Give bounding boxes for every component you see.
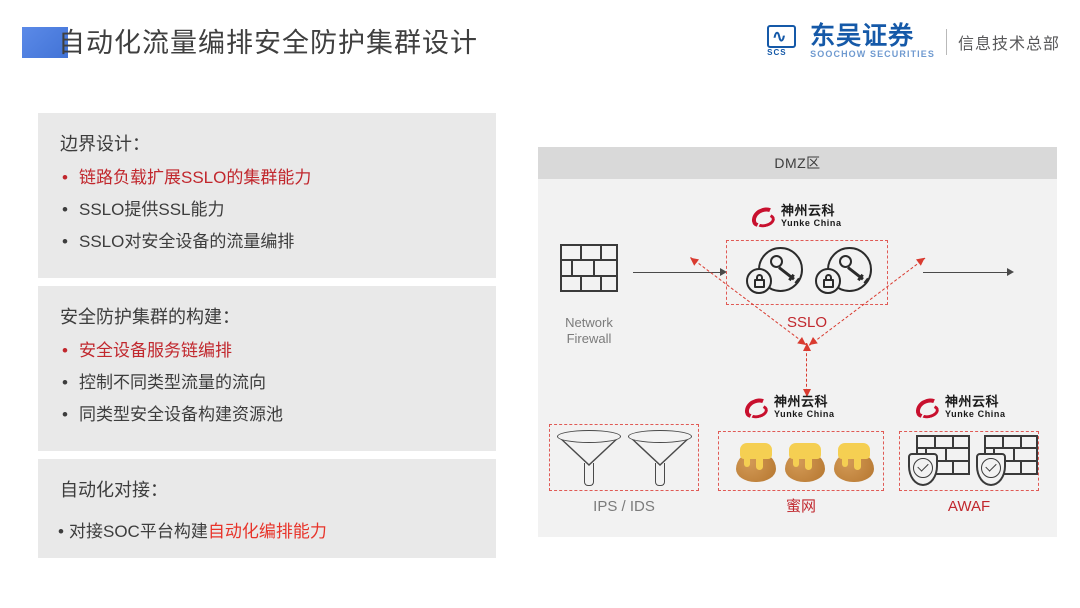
honey-pot-icon	[734, 439, 778, 483]
brand-department: 信息技术总部	[958, 30, 1060, 54]
vendor-name-cn: 神州云科	[774, 395, 835, 409]
block-heading: 自动化对接：	[38, 459, 496, 502]
vendor-name-cn: 神州云科	[781, 204, 842, 218]
list-item-label-highlight: 自动化编排能力	[208, 522, 327, 541]
node-label-awaf: AWAF	[899, 499, 1039, 515]
list-item: • 链路负载扩展SSLO的集群能力	[38, 156, 496, 188]
honey-pot-icon	[832, 439, 876, 483]
vendor-logo-yunke: 神州云科 Yunke China	[744, 395, 835, 420]
list-item: • 安全设备服务链编排	[38, 329, 496, 361]
list-item-label: SSLO对安全设备的流量编排	[79, 232, 294, 252]
yunke-mark-icon	[744, 398, 770, 418]
bullet-icon: •	[62, 200, 79, 220]
key-lock-icon	[746, 247, 806, 297]
shield-wall-icon	[976, 435, 1038, 487]
yunke-mark-icon	[915, 398, 941, 418]
key-lock-icon	[815, 247, 875, 297]
bullet-icon: •	[62, 341, 79, 361]
vendor-name-en: Yunke China	[774, 409, 835, 420]
funnel-icon	[557, 430, 621, 487]
node-label-ips-ids: IPS / IDS	[549, 499, 699, 515]
bullet-icon: •	[62, 232, 79, 252]
node-label-honeynet: 蜜网	[718, 499, 884, 515]
vendor-name-en: Yunke China	[945, 409, 1006, 420]
content-block-automation: 自动化对接： • 对接SOC平台构建自动化编排能力	[38, 459, 496, 558]
list-item-label: SSLO提供SSL能力	[79, 200, 225, 220]
brick-wall-icon	[560, 244, 618, 292]
brand-logo: ∿ SCS 东吴证券 SOOCHOW SECURITIES 信息技术总部	[767, 22, 1060, 62]
bullet-icon: •	[62, 373, 79, 393]
vendor-name-en: Yunke China	[781, 218, 842, 229]
content-block-boundary-design: 边界设计： • 链路负载扩展SSLO的集群能力 • SSLO提供SSL能力 • …	[38, 113, 496, 278]
brand-divider	[946, 29, 947, 55]
content-block-cluster-build: 安全防护集群的构建： • 安全设备服务链编排 • 控制不同类型流量的流向 • 同…	[38, 286, 496, 451]
list-item-label: 安全设备服务链编排	[79, 341, 232, 361]
vendor-logo-yunke: 神州云科 Yunke China	[915, 395, 1006, 420]
honey-pot-icon	[783, 439, 827, 483]
bullet-icon: •	[62, 405, 79, 425]
shield-wall-icon	[908, 435, 970, 487]
bullet-icon: •	[62, 168, 79, 188]
vendor-name-cn: 神州云科	[945, 395, 1006, 409]
list-item-label: 链路负载扩展SSLO的集群能力	[79, 168, 311, 188]
brand-name-cn: 东吴证券	[810, 24, 935, 49]
list-item-label: 对接SOC平台构建自动化编排能力	[69, 522, 327, 542]
dmz-zone-band: DMZ区	[538, 147, 1057, 179]
list-item-label: 同类型安全设备构建资源池	[79, 405, 283, 425]
list-item: • 对接SOC平台构建自动化编排能力	[38, 502, 496, 542]
list-item: • 同类型安全设备构建资源池	[38, 393, 496, 425]
page-title: 自动化流量编排安全防护集群设计	[58, 21, 478, 60]
block-heading: 边界设计：	[38, 113, 496, 156]
soochow-securities-logo-icon: ∿ SCS	[767, 25, 803, 59]
funnel-icon	[628, 430, 692, 487]
list-item-label-plain: 对接SOC平台构建	[69, 522, 208, 541]
vendor-logo-yunke: 神州云科 Yunke China	[751, 204, 842, 229]
list-item: • 控制不同类型流量的流向	[38, 361, 496, 393]
yunke-mark-icon	[751, 207, 777, 227]
list-item-label: 控制不同类型流量的流向	[79, 373, 266, 393]
page-header: 自动化流量编排安全防护集群设计 ∿ SCS 东吴证券 SOOCHOW SECUR…	[0, 0, 1080, 92]
block-heading: 安全防护集群的构建：	[38, 286, 496, 329]
architecture-diagram: DMZ区 Network Firewall 神州云科 Yunke China	[538, 147, 1057, 537]
bullet-icon: •	[58, 522, 69, 542]
brand-name-en: SOOCHOW SECURITIES	[810, 49, 935, 60]
list-item: • SSLO提供SSL能力	[38, 188, 496, 220]
list-item: • SSLO对安全设备的流量编排	[38, 220, 496, 252]
node-label-network-firewall: Network Firewall	[543, 315, 635, 347]
brand-mark-text: SCS	[767, 49, 786, 57]
dmz-zone-label: DMZ区	[774, 153, 820, 173]
